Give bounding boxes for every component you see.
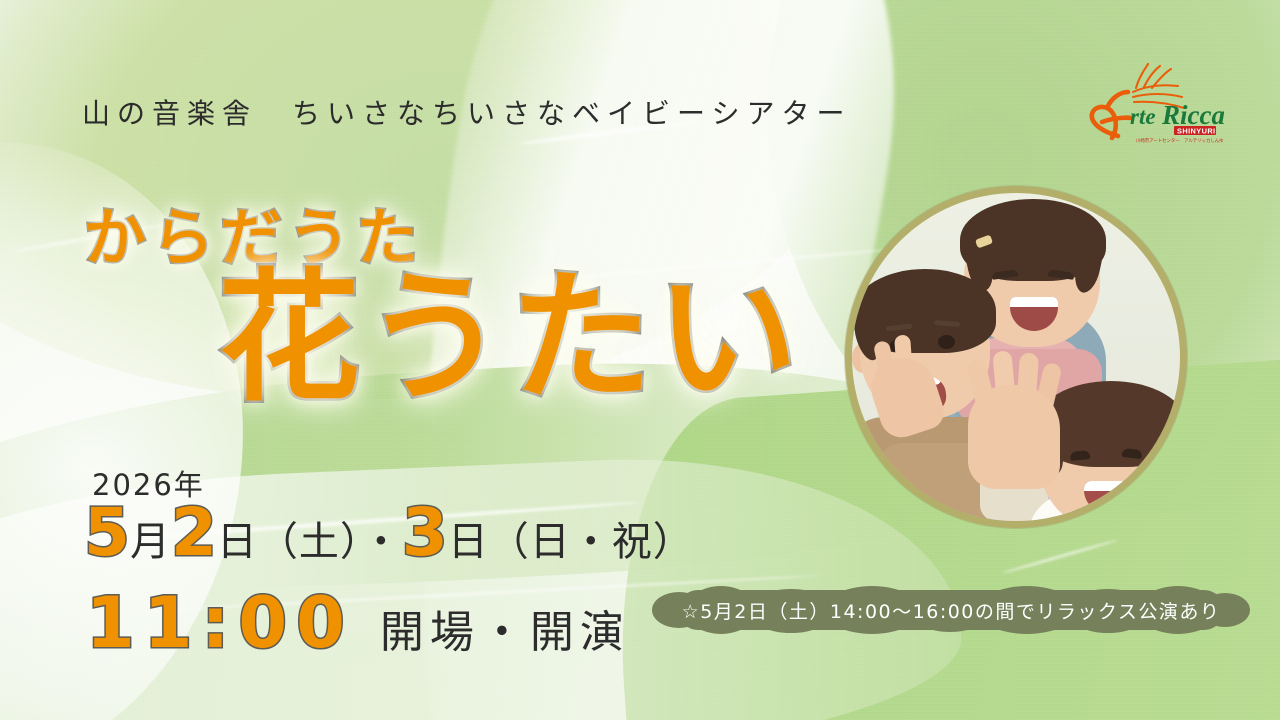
baby-photo	[852, 193, 1180, 521]
date-day2-label: 日（日・祝）	[448, 522, 694, 562]
series-subtitle: 山の音楽舎 ちいさなちいさなベイビーシアター	[82, 92, 851, 132]
relax-performance-banner: ☆5月2日（土）14:00〜16:00の間でリラックス公演あり	[652, 586, 1250, 634]
logo-word-rte: rte	[1130, 104, 1156, 129]
start-time: 11:00	[86, 588, 354, 658]
date-month-label: 月	[130, 522, 171, 562]
date-day1-label: 日（土）・	[217, 522, 402, 562]
date-day1-number: 2	[171, 500, 217, 566]
baby-teeth	[1010, 297, 1058, 307]
poster-canvas: 山の音楽舎 ちいさなちいさなベイビーシアター からだうた 花うたい 2026年 …	[0, 0, 1280, 720]
photo-ring	[845, 186, 1187, 528]
event-date: 5 月 2 日（土）・ 3 日（日・祝）	[84, 500, 694, 566]
page-title: 花うたい	[218, 268, 802, 410]
logo-word-ricca: Ricca	[1161, 100, 1224, 130]
date-month-number: 5	[84, 500, 130, 566]
logo-fine-print: 川崎市アートセンター アルテリッカしんゆり	[1136, 137, 1224, 144]
arte-ricca-logo: rte Ricca SHINYURI 川崎市アートセンター アルテリッカしんゆり	[1078, 62, 1224, 146]
brush-highlight-stroke	[1002, 539, 1118, 575]
wheat-leaf-icon: rte Ricca SHINYURI 川崎市アートセンター アルテリッカしんゆり	[1078, 62, 1224, 146]
banner-text: ☆5月2日（土）14:00〜16:00の間でリラックス公演あり	[652, 586, 1250, 634]
logo-sub-shinyuri: SHINYURI	[1177, 127, 1216, 136]
time-label: 開場・開演	[380, 611, 630, 655]
date-day2-number: 3	[402, 500, 448, 566]
baby-eye	[938, 335, 955, 349]
baby-teeth	[1084, 481, 1130, 491]
event-time: 11:00 開場・開演	[86, 588, 630, 658]
baby-hand	[968, 385, 1060, 489]
